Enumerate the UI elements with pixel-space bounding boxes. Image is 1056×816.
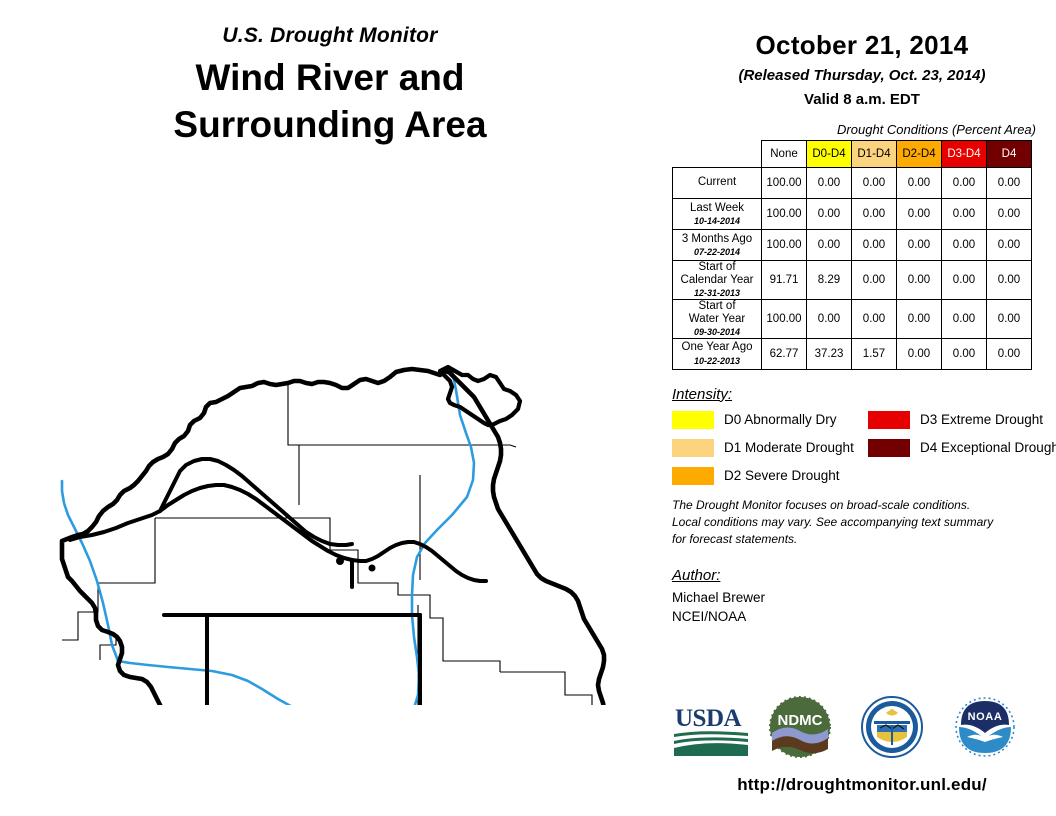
ndmc-logo: NDMC [768,695,832,764]
author-title: Author: [672,567,1056,584]
row-label-3-months-ago: 3 Months Ago 07-22-2014 [673,230,762,261]
disclaimer-line3: for forecast statements. [672,531,1056,548]
legend-item-d3: D3 Extreme Drought [868,411,1043,429]
cell-d4: 0.00 [987,261,1032,300]
cell-d2d4: 0.00 [897,199,942,230]
cell-d3d4: 0.00 [942,299,987,338]
usda-logo: USDA [672,700,752,763]
right-panel: October 21, 2014 (Released Thursday, Oct… [668,0,1056,816]
cell-none: 100.00 [762,168,807,199]
table-row: 3 Months Ago 07-22-2014 100.00 0.00 0.00… [673,230,1032,261]
cell-d1d4: 0.00 [852,168,897,199]
cell-d1d4: 0.00 [852,261,897,300]
col-header-d4: D4 [987,141,1032,168]
legend-item-d4: D4 Exceptional Drought [868,439,1056,457]
author-name: Michael Brewer [672,588,1056,608]
cell-d3d4: 0.00 [942,338,987,369]
author-affiliation: NCEI/NOAA [672,607,1056,627]
cell-d1d4: 0.00 [852,199,897,230]
table-header-row: None D0-D4 D1-D4 D2-D4 D3-D4 D4 [673,141,1032,168]
svg-text:USDA: USDA [675,705,742,732]
intensity-title: Intensity: [672,386,1056,403]
cell-none: 91.71 [762,261,807,300]
cell-d0d4: 37.23 [807,338,852,369]
cell-d1d4: 0.00 [852,230,897,261]
program-title: U.S. Drought Monitor [0,24,660,48]
cell-d1d4: 1.57 [852,338,897,369]
cell-d4: 0.00 [987,338,1032,369]
legend-label-d4: D4 Exceptional Drought [920,440,1056,455]
row-label-start-calendar-year: Start of Calendar Year 12-31-2013 [673,261,762,300]
col-header-none: None [762,141,807,168]
table-row: Last Week 10-14-2014 100.00 0.00 0.00 0.… [673,199,1032,230]
region-title-line2: Surrounding Area [0,101,660,148]
cell-d4: 0.00 [987,168,1032,199]
website-url[interactable]: http://droughtmonitor.unl.edu/ [668,775,1056,795]
header-corner-blank [673,141,762,168]
swatch-d4 [868,439,910,457]
cell-d4: 0.00 [987,299,1032,338]
cell-d3d4: 0.00 [942,199,987,230]
cell-d0d4: 0.00 [807,199,852,230]
map-date: October 21, 2014 [668,30,1056,61]
cell-d0d4: 0.00 [807,230,852,261]
legend-item-d2: D2 Severe Drought [672,467,840,485]
intensity-legend: D0 Abnormally Dry D1 Moderate Drought D2… [672,411,1056,489]
cell-d3d4: 0.00 [942,261,987,300]
drought-conditions-table: None D0-D4 D1-D4 D2-D4 D3-D4 D4 Current … [672,140,1032,370]
col-header-d1d4: D1-D4 [852,141,897,168]
cell-d1d4: 0.00 [852,299,897,338]
legend-label-d0: D0 Abnormally Dry [724,412,837,427]
table-caption: Drought Conditions (Percent Area) [668,122,1056,137]
table-row: Start of Water Year 09-30-2014 100.00 0.… [673,299,1032,338]
title-block: U.S. Drought Monitor Wind River and Surr… [0,24,660,149]
legend-item-d1: D1 Moderate Drought [672,439,854,457]
drought-monitor-page: U.S. Drought Monitor Wind River and Surr… [0,0,1056,816]
row-label-current: Current [673,168,762,199]
disclaimer-line2: Local conditions may vary. See accompany… [672,514,1056,531]
cell-d0d4: 0.00 [807,168,852,199]
table-row: One Year Ago 10-22-2013 62.77 37.23 1.57… [673,338,1032,369]
cell-d2d4: 0.00 [897,230,942,261]
cell-d4: 0.00 [987,230,1032,261]
cell-d3d4: 0.00 [942,230,987,261]
swatch-d1 [672,439,714,457]
legend-label-d2: D2 Severe Drought [724,468,840,483]
col-header-d0d4: D0-D4 [807,141,852,168]
valid-time: Valid 8 a.m. EDT [668,91,1056,108]
cell-d4: 0.00 [987,199,1032,230]
col-header-d2d4: D2-D4 [897,141,942,168]
cell-d2d4: 0.00 [897,338,942,369]
cell-none: 100.00 [762,230,807,261]
cell-none: 100.00 [762,299,807,338]
cell-d2d4: 0.00 [897,261,942,300]
drought-map [0,175,660,705]
svg-text:NDMC: NDMC [778,712,823,729]
cell-d0d4: 0.00 [807,299,852,338]
cell-none: 100.00 [762,199,807,230]
row-label-one-year-ago: One Year Ago 10-22-2013 [673,338,762,369]
disclaimer-line1: The Drought Monitor focuses on broad-sca… [672,497,1056,514]
legend-item-d0: D0 Abnormally Dry [672,411,837,429]
legend-label-d1: D1 Moderate Drought [724,440,854,455]
cell-none: 62.77 [762,338,807,369]
table-body: Current 100.00 0.00 0.00 0.00 0.00 0.00 … [673,168,1032,370]
swatch-d2 [672,467,714,485]
swatch-d3 [868,411,910,429]
region-title-line1: Wind River and [0,54,660,101]
noaa-logo: NOAA [953,695,1017,764]
cell-d0d4: 8.29 [807,261,852,300]
col-header-d3d4: D3-D4 [942,141,987,168]
swatch-d0 [672,411,714,429]
table-row: Start of Calendar Year 12-31-2013 91.71 … [673,261,1032,300]
cell-d3d4: 0.00 [942,168,987,199]
legend-label-d3: D3 Extreme Drought [920,412,1043,427]
usdc-seal-logo [860,695,924,764]
svg-text:NOAA: NOAA [968,711,1003,723]
cell-d2d4: 0.00 [897,299,942,338]
release-date: (Released Thursday, Oct. 23, 2014) [668,67,1056,84]
logo-row: USDA NDMC [668,690,1056,770]
row-label-start-water-year: Start of Water Year 09-30-2014 [673,299,762,338]
row-label-last-week: Last Week 10-14-2014 [673,199,762,230]
cell-d2d4: 0.00 [897,168,942,199]
table-row: Current 100.00 0.00 0.00 0.00 0.00 0.00 [673,168,1032,199]
disclaimer: The Drought Monitor focuses on broad-sca… [672,497,1056,549]
